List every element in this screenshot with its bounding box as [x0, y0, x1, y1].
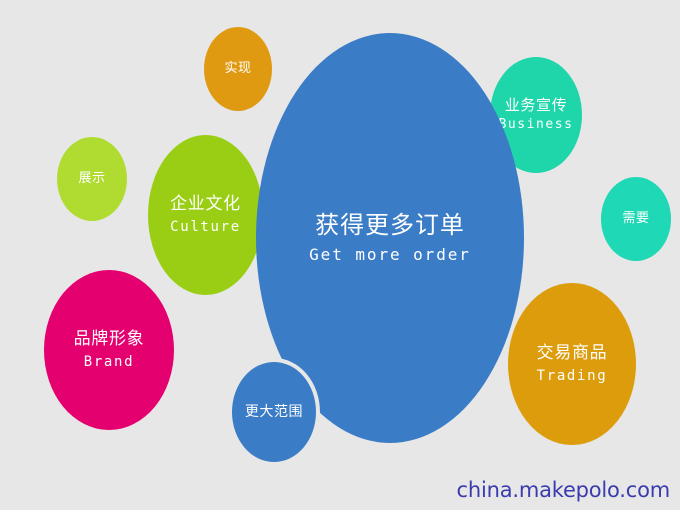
watermark-text: china.makepolo.com [457, 478, 670, 502]
bubble-brand-label-cn: 品牌形象 [74, 330, 145, 350]
bubble-diagram-canvas: 实现 展示 需要 业务宣传 Business 企业文化 Culture 品牌形象… [0, 0, 680, 510]
bubble-realize[interactable]: 实现 [204, 27, 272, 111]
bubble-center-label-cn: 获得更多订单 [315, 212, 465, 240]
bubble-realize-label-cn: 实现 [224, 62, 251, 77]
bubble-culture-label-cn: 企业文化 [170, 195, 241, 215]
bubble-business-label-cn: 业务宣传 [505, 97, 567, 114]
bubble-culture-label-en: Culture [170, 219, 241, 235]
bubble-brand-label-en: Brand [84, 354, 135, 370]
bubble-need-label-cn: 需要 [622, 212, 649, 227]
bubble-scope-label-cn: 更大范围 [245, 404, 303, 420]
bubble-trading-label-cn: 交易商品 [537, 344, 608, 364]
bubble-need[interactable]: 需要 [601, 177, 671, 261]
bubble-culture[interactable]: 企业文化 Culture [148, 135, 263, 295]
bubble-brand[interactable]: 品牌形象 Brand [44, 270, 174, 430]
bubble-wider-scope[interactable]: 更大范围 [228, 358, 320, 466]
bubble-trading[interactable]: 交易商品 Trading [508, 283, 636, 445]
bubble-trading-label-en: Trading [537, 368, 608, 384]
bubble-display[interactable]: 展示 [57, 137, 127, 221]
bubble-display-label-cn: 展示 [78, 172, 105, 187]
bubble-business-label-en: Business [498, 118, 573, 133]
bubble-center-label-en: Get more order [309, 246, 471, 264]
